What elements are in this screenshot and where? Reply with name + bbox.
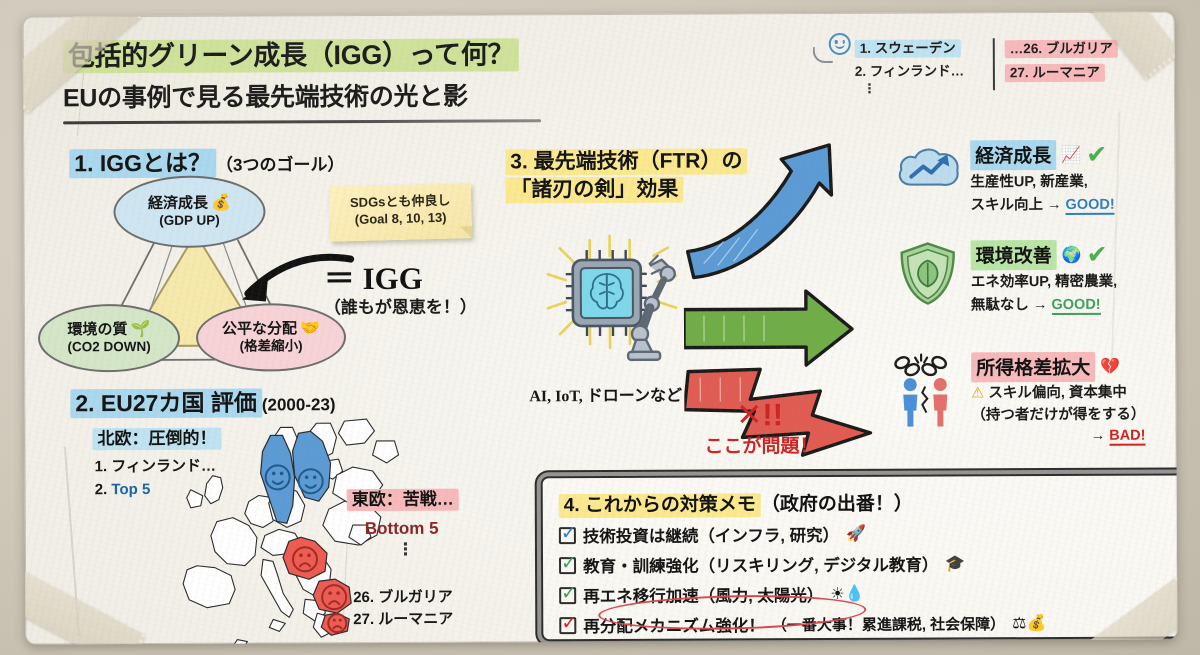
section1-heading: 1. IGGとは？（3つのゴール） (69, 143, 344, 178)
outcome-body-line1: ⚠ スキル偏向, 資本集中 (971, 384, 1145, 404)
rocket-icon: 🚀 (846, 524, 866, 544)
memo-item[interactable]: 技術投資は継続（インフラ, 研究） 🚀 (559, 520, 1175, 547)
outcome-economic-growth: 経済成長 📈 ✔ 生産性UP, 新産業, スキル向上 → GOOD! (897, 140, 1115, 216)
outcome-text-block: 経済成長 📈 ✔ 生産性UP, 新産業, スキル向上 → GOOD! (970, 140, 1115, 216)
broken-chain-people-icon (892, 352, 962, 447)
ranking-note: 1. スウェーデン 2. フィンランド… ⋮ …26. ブルガリア 27. ルー… (831, 36, 1153, 95)
paper-sheet: 包括的グリーン成長（IGG）って何？ EUの事例で見る最先端技術の光と影 1. … (23, 11, 1178, 644)
page-title-line1: 包括的グリーン成長（IGG）って何？ (63, 32, 623, 73)
ai-chip-robot-icon (532, 226, 703, 377)
sun-droplet-icon: ☀💧 (830, 584, 864, 604)
top5-value: Top 5 (111, 480, 150, 497)
outcome-body-line1: エネ効率UP, 精密農業, (971, 273, 1117, 293)
outcome-title-row: 環境改善 🌍 ✔ (971, 240, 1117, 271)
ranking-item-26: …26. ブルガリア (1005, 37, 1118, 57)
globe-icon: 🌍 (1062, 245, 1082, 265)
tape-bottom-left (23, 566, 146, 645)
scales-moneybag-icon: ⚖💰 (1012, 613, 1046, 633)
broken-heart-icon: 💔 (1100, 357, 1120, 377)
outcome-title: 経済成長 (970, 140, 1056, 170)
outcome-body-line2: （持つ者だけが得をする） (971, 405, 1145, 425)
seedling-icon: 🌱 (131, 321, 151, 339)
memo-item-tail: （一番大事！累進課税, 社会保障） (772, 613, 1005, 635)
section4-title-text: 4. これからの対策メモ (559, 493, 761, 518)
memo-item[interactable]: 再エネ移行加速（風力, 太陽光） ☀💧 (559, 580, 1175, 607)
goal-node-sub: (CO2 DOWN) (67, 339, 150, 354)
chart-increasing-icon: 📈 (1061, 145, 1081, 165)
check-mark-icon: ✔ (1086, 142, 1107, 167)
goal-node-sub: (GDP UP) (159, 213, 220, 228)
infographic-canvas: 包括的グリーン成長（IGG）って何？ EUの事例で見る最先端技術の光と影 1. … (0, 0, 1200, 655)
outcome-body-line1: 生産性UP, 新産業, (970, 173, 1114, 193)
outcome-title: 環境改善 (971, 240, 1057, 270)
outcome-text-block: 環境改善 🌍 ✔ エネ効率UP, 精密農業, 無駄なし → GOOD! (971, 240, 1118, 316)
handshake-icon: 🤝 (300, 321, 320, 339)
section1-heading-sub: （3つのゴール） (216, 155, 345, 175)
section2-heading: 2. EU27カ国 評価(2000-23) (70, 383, 335, 418)
goal-node-environment: 環境の質 🌱 (CO2 DOWN) (38, 304, 180, 373)
section4-title-sub: （政府の出番！） (761, 494, 913, 516)
eastern-europe-label: 東欧：苦戦… (347, 485, 459, 510)
check-mark-icon: ✔ (1087, 242, 1108, 267)
outcome-body-line2: 無駄なし → GOOD! (971, 295, 1117, 315)
page-header: 包括的グリーン成長（IGG）って何？ EUの事例で見る最先端技術の光と影 (63, 32, 623, 124)
outcome-verdict: BAD! (1109, 428, 1145, 446)
eastern-item-26: 26. ブルガリア (353, 587, 453, 609)
money-bag-icon: 💰 (211, 195, 231, 213)
problem-x-mark: ✕!! (736, 397, 783, 433)
section1-heading-text: 1. IGGとは？ (69, 149, 216, 179)
memo-item-label: 再分配メカニズム強化！ (583, 612, 765, 637)
memo-item-label: 技術投資は継続（インフラ, 研究） (583, 522, 839, 547)
outcome-body-line2: スキル向上 → GOOD! (970, 195, 1114, 215)
goal-node-economic-growth: 経済成長 💰 (GDP UP) (113, 175, 265, 248)
goal-node-label: 公平な分配 (222, 321, 297, 338)
shield-leaf-icon (898, 240, 962, 315)
goal-node-label: 環境の質 (68, 322, 128, 339)
problem-note: ここが問題！ (704, 431, 818, 458)
igg-triangle-diagram: 経済成長 💰 (GDP UP) 環境の質 🌱 (CO2 DOWN) 公平な分配 … (55, 183, 356, 379)
ai-chip-svg (532, 226, 703, 377)
ranking-divider (993, 38, 995, 90)
outcome-title-row: 経済成長 📈 ✔ (970, 140, 1114, 171)
ranking-top-list: 1. スウェーデン 2. フィンランド… ⋮ (831, 36, 983, 94)
eastern-ranking-list: 26. ブルガリア 27. ルーマニア (353, 587, 453, 631)
tech-caption: AI, IoT, ドローンなど (529, 382, 682, 407)
sdg-sticky-note: SDGsとも仲良し (Goal 8, 10, 13) (329, 183, 472, 241)
eastern-item-27: 27. ルーマニア (353, 608, 453, 630)
page-title-line1-text: 包括的グリーン成長（IGG）って何？ (63, 38, 520, 73)
goal-node-sub: (格差縮小) (240, 339, 303, 354)
section4-title: 4. これからの対策メモ（政府の出番！） (559, 487, 1175, 517)
cloud-growth-icon (897, 140, 961, 215)
ranking-item-1: 1. スウェーデン (855, 36, 983, 57)
memo-item-highlighted[interactable]: 再分配メカニズム強化！ （一番大事！累進課税, 社会保障） ⚖💰 (559, 610, 1175, 637)
ranking-item-27: 27. ルーマニア (1005, 61, 1118, 81)
checkbox-icon[interactable] (559, 587, 576, 604)
memo-item-label: 教育・訓練強化（リスキリング, デジタル教育） (583, 552, 938, 578)
checkbox-icon[interactable] (559, 527, 576, 544)
ranking-ellipsis: ⋮ (863, 82, 983, 94)
outcome-text-block: 所得格差拡大 💔 ⚠ スキル偏向, 資本集中 （持つ者だけが得をする） → BA… (971, 352, 1145, 447)
sdg-note-line2: (Goal 8, 10, 13) (335, 209, 465, 229)
outcome-environment: 環境改善 🌍 ✔ エネ効率UP, 精密農業, 無駄なし → GOOD! (898, 240, 1118, 316)
title-underline-rule (63, 119, 541, 124)
eastern-ellipsis: ⋮ (397, 545, 414, 554)
checkbox-icon[interactable] (559, 557, 576, 574)
section2-heading-sub: (2000-23) (262, 395, 336, 414)
outcome-body-line3: → BAD! (971, 427, 1145, 447)
impact-arrows (683, 133, 924, 474)
page-title-line2: EUの事例で見る最先端技術の光と影 (63, 76, 623, 114)
ranking-item-2: 2. フィンランド… (855, 59, 983, 80)
outcome-title-row: 所得格差拡大 💔 (971, 352, 1145, 383)
bottom5-label: Bottom 5 (365, 519, 439, 539)
section4-memo-box: 4. これからの対策メモ（政府の出番！） 技術投資は継続（インフラ, 研究） 🚀… (541, 473, 1178, 641)
section2-heading-text: 2. EU27カ国 評価 (70, 388, 262, 418)
outcome-title: 所得格差拡大 (971, 352, 1095, 383)
igg-equals-label: ＝ IGG (324, 253, 423, 298)
outcome-inequality: 所得格差拡大 💔 ⚠ スキル偏向, 資本集中 （持つ者だけが得をする） → BA… (892, 352, 1145, 448)
ranking-bottom-list: …26. ブルガリア 27. ルーマニア (1005, 36, 1118, 94)
outcome-verdict: GOOD! (1065, 196, 1114, 214)
warning-icon: ⚠ (971, 385, 988, 401)
igg-caption: （誰もが恩恵を！） (324, 293, 477, 319)
graduation-cap-icon: 🎓 (945, 553, 965, 573)
memo-item[interactable]: 教育・訓練強化（リスキリング, デジタル教育） 🎓 (559, 550, 1175, 577)
goal-node-label: 経済成長 (148, 196, 208, 213)
memo-item-label: 再エネ移行加速（風力, 太陽光） (583, 582, 823, 607)
outcome-verdict: GOOD! (1051, 296, 1100, 314)
smiley-face-icon (829, 33, 851, 55)
checkbox-icon[interactable] (559, 617, 576, 634)
